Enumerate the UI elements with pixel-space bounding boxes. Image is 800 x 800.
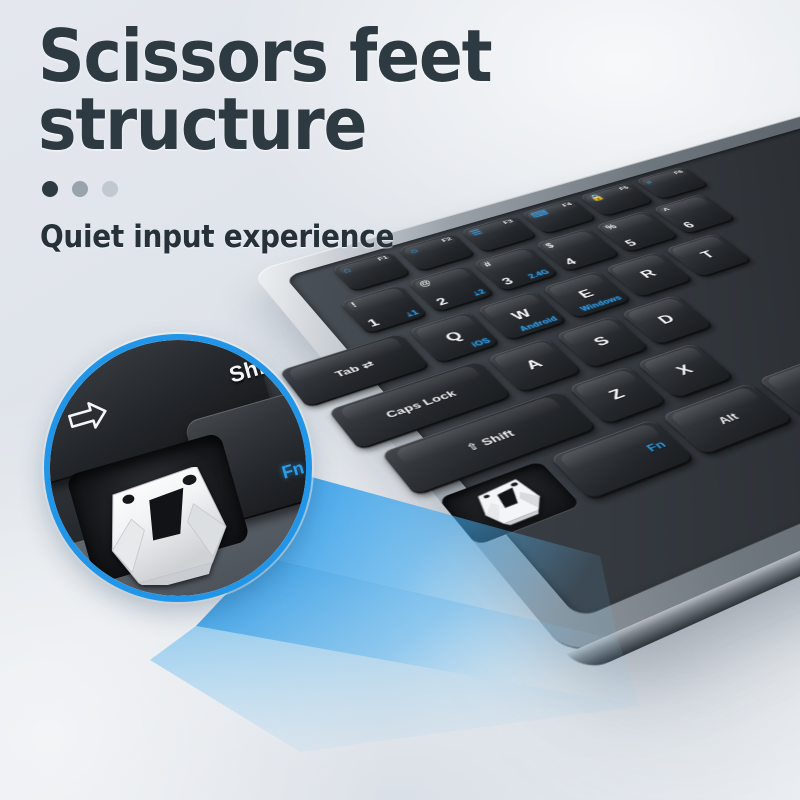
headline-line-2: structure xyxy=(38,90,648,158)
key-lower-legend: 1 xyxy=(365,317,383,330)
key-fn[interactable]: Fn xyxy=(550,419,696,501)
key-alt[interactable]: Alt xyxy=(661,383,795,456)
magnifier-inset: Shift Fn xyxy=(44,334,312,602)
key-upper-legend: ^ xyxy=(661,207,674,214)
product-feature-image: F1⌂F2☼F3☰F4⌨F5🔒F6⌕!1ᛦ1@2ᛦ2#32.4G$4%5^6Ta… xyxy=(0,0,800,800)
key-w[interactable]: WAndroid xyxy=(477,291,568,342)
key-cap-face: Fn xyxy=(550,419,696,501)
key-upper-legend: # xyxy=(481,260,494,268)
key-a[interactable]: A xyxy=(487,338,583,394)
key-alt-legend: 2.4G xyxy=(527,269,552,280)
white-scissor-switch-icon xyxy=(100,467,232,585)
key-legend: Q xyxy=(442,329,467,345)
dot-third[interactable] xyxy=(102,181,118,197)
dot-active[interactable] xyxy=(42,181,58,197)
key-cap-face: W xyxy=(477,291,568,342)
subtitle: Quiet input experience xyxy=(40,219,648,255)
magnifier-content: Shift Fn xyxy=(50,340,306,596)
page-title: Scissors feet structure xyxy=(38,22,648,159)
home-screen-icon: ⌂ xyxy=(340,266,353,274)
key-legend: R xyxy=(637,267,661,281)
headline-block: Scissors feet structure Quiet input expe… xyxy=(38,22,648,255)
key-cap-face: Z xyxy=(568,366,668,425)
key-e[interactable]: EWindows xyxy=(542,271,632,319)
key-cap-face: E xyxy=(542,271,632,319)
page-indicator-dots xyxy=(42,181,648,197)
dot-second[interactable] xyxy=(72,181,88,197)
fkey-label: F6 xyxy=(672,169,685,175)
fkey-label: F1 xyxy=(376,255,390,262)
key-lower-legend: 6 xyxy=(680,220,699,231)
key-legend: Fn xyxy=(643,438,669,454)
key-cap-face: Alt xyxy=(661,383,795,456)
key-option[interactable]: Option xyxy=(758,347,800,418)
key-upper-legend: @ xyxy=(417,279,434,289)
key-legend: W xyxy=(508,307,536,323)
key-legend: Z xyxy=(605,386,630,403)
key-lower-legend: 4 xyxy=(562,256,580,267)
key-legend: ⇧ Shift xyxy=(463,427,518,454)
key-cap-face: Option xyxy=(758,347,800,418)
key-legend: T xyxy=(697,249,719,262)
key-cap-face: A xyxy=(487,338,583,394)
key-z[interactable]: Z xyxy=(568,366,668,425)
key-alt-legend: Android xyxy=(518,316,560,333)
